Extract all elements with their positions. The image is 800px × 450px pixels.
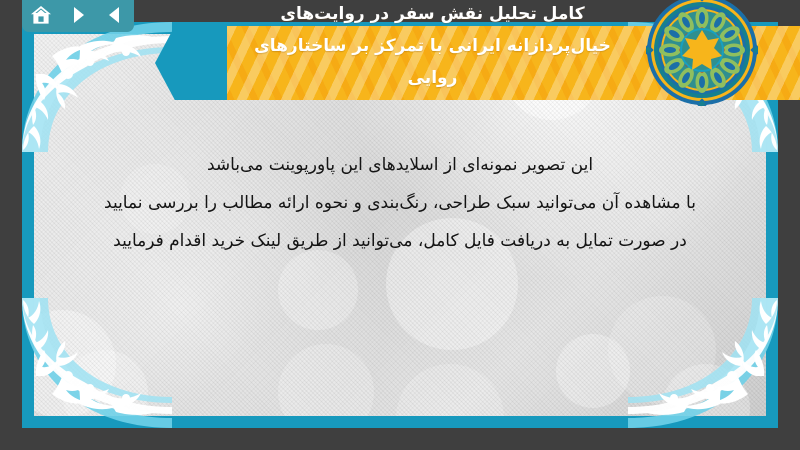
persian-medallion-icon [646, 0, 758, 106]
body-line: این تصویر نمونه‌ای از اسلایدهای این پاور… [64, 146, 736, 184]
home-icon [30, 5, 52, 25]
bokeh-circle [278, 250, 358, 330]
navigation-bar [22, 0, 134, 32]
bokeh-circle [396, 364, 504, 416]
previous-button[interactable] [102, 3, 128, 27]
slide-stage: این تصویر نمونه‌ای از اسلایدهای این پاور… [0, 0, 800, 450]
body-line: در صورت تمایل به دریافت فایل کامل، می‌تو… [64, 222, 736, 260]
body-line: با مشاهده آن می‌توانید سبک طراحی، رنگ‌بن… [64, 184, 736, 222]
home-button[interactable] [28, 3, 54, 27]
bokeh-circle [608, 296, 716, 404]
bokeh-circle [662, 364, 750, 416]
next-button[interactable] [65, 3, 91, 27]
bokeh-circle [504, 34, 600, 120]
bokeh-circle [34, 310, 116, 416]
triangle-left-icon [105, 5, 125, 25]
triangle-right-icon [68, 5, 88, 25]
bokeh-circle [278, 344, 374, 416]
bokeh-circle [556, 334, 630, 408]
slide-body-text: این تصویر نمونه‌ای از اسلایدهای این پاور… [64, 146, 736, 260]
bokeh-circle [62, 350, 148, 416]
